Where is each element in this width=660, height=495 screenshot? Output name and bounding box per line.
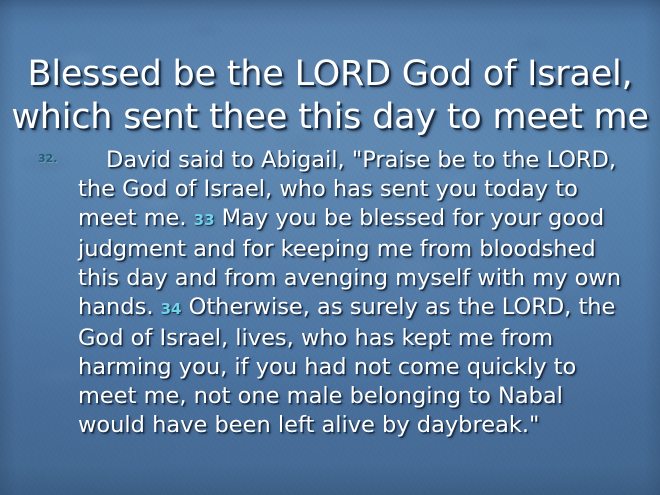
verse-number-32: 32.: [38, 152, 58, 166]
slide-title: Blessed be the LORD God of Israel, which…: [0, 53, 660, 139]
presentation-slide: Blessed be the LORD God of Israel, which…: [0, 0, 660, 495]
verse-number-34: 34: [161, 300, 182, 318]
verse-number-33: 33: [194, 211, 215, 229]
slide-body-text: David said to Abigail, "Praise be to the…: [78, 146, 630, 440]
